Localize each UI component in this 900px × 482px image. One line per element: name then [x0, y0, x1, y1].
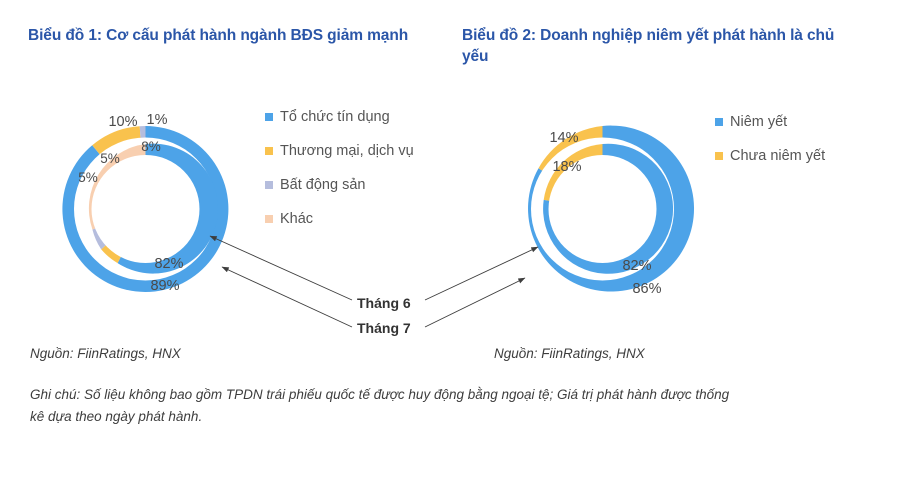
legend-label-niem-yet: Niêm yết: [730, 114, 787, 130]
chart-2-outer-yellow-label: 14%: [549, 130, 578, 146]
chart-1-outer-yellow-label: 10%: [108, 114, 137, 130]
legend-item-chua-niem-yet[interactable]: Chưa niêm yết: [715, 139, 825, 173]
chart-2-donut: 86% 14% 82% 18%: [492, 95, 717, 323]
chart-1-inner-peach-label: 8%: [141, 139, 161, 154]
chart-1-inner-yellow-label: 5%: [78, 170, 98, 185]
legend-label-bat-dong-san: Bất động sản: [280, 177, 365, 193]
legend-item-to-chuc-tin-dung[interactable]: Tổ chức tín dụng: [265, 100, 414, 134]
ring-annotation-labels: Tháng 6 Tháng 7: [357, 291, 411, 341]
legend-swatch-blue-icon: [265, 113, 273, 121]
annotation-thang-6: Tháng 6: [357, 291, 411, 316]
legend-swatch-blue-icon: [715, 118, 723, 126]
chart-1-outer-purple-label: 1%: [147, 112, 168, 128]
chart-2-source: Nguồn: FiinRatings, HNX: [494, 346, 645, 361]
chart-1-inner-blue-label: 82%: [154, 256, 183, 272]
chart-1-donut: 89% 10% 1% 82% 5% 5% 8%: [35, 95, 260, 323]
chart-2-inner-blue-label: 82%: [622, 258, 651, 274]
legend-item-khac[interactable]: Khác: [265, 202, 414, 236]
legend-item-thuong-mai-dich-vu[interactable]: Thương mại, dịch vụ: [265, 134, 414, 168]
legend-swatch-yellow-icon: [265, 147, 273, 155]
legend-item-bat-dong-san[interactable]: Bất động sản: [265, 168, 414, 202]
legend-label-to-chuc-tin-dung: Tổ chức tín dụng: [280, 109, 390, 125]
chart-1-inner-purple-label: 5%: [100, 151, 120, 166]
chart-1-legend: Tổ chức tín dụng Thương mại, dịch vụ Bất…: [265, 100, 414, 236]
legend-label-thuong-mai-dich-vu: Thương mại, dịch vụ: [280, 143, 414, 159]
footnote: Ghi chú: Số liệu không bao gồm TPDN trái…: [30, 384, 730, 428]
legend-swatch-purple-icon: [265, 181, 273, 189]
chart-2-title: Biểu đồ 2: Doanh nghiệp niêm yết phát hà…: [462, 26, 862, 67]
chart-1-outer-blue-label: 89%: [150, 278, 179, 294]
chart-2-inner-yellow-label: 18%: [552, 159, 581, 175]
chart-1-title: Biểu đồ 1: Cơ cấu phát hành ngành BĐS gi…: [28, 26, 438, 47]
legend-item-niem-yet[interactable]: Niêm yết: [715, 105, 825, 139]
legend-swatch-peach-icon: [265, 215, 273, 223]
chart-2-outer-blue-label: 86%: [632, 281, 661, 297]
annotation-thang-7: Tháng 7: [357, 316, 411, 341]
legend-label-chua-niem-yet: Chưa niêm yết: [730, 148, 825, 164]
chart-1-source: Nguồn: FiinRatings, HNX: [30, 346, 181, 361]
chart-2-legend: Niêm yết Chưa niêm yết: [715, 105, 825, 173]
legend-label-khac: Khác: [280, 211, 313, 227]
legend-swatch-yellow-icon: [715, 152, 723, 160]
